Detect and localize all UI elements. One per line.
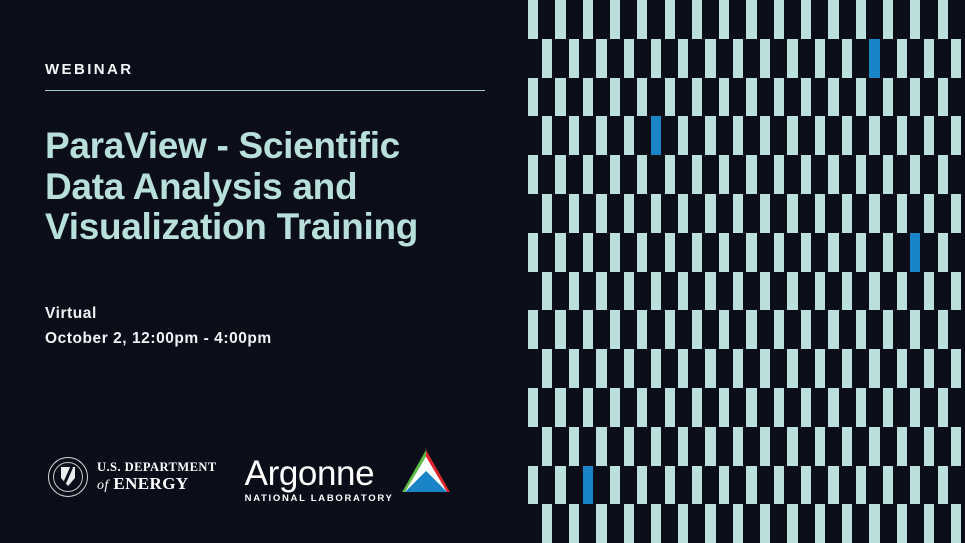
pattern-bar (774, 466, 784, 505)
pattern-bar (938, 78, 948, 117)
pattern-bar (555, 466, 565, 505)
pattern-bar (746, 466, 756, 505)
pattern-bar (815, 349, 825, 388)
pattern-row (528, 388, 965, 427)
pattern-bar (637, 0, 647, 39)
pattern-bar (938, 466, 948, 505)
pattern-bar (665, 0, 675, 39)
pattern-bar (705, 194, 715, 233)
pattern-bar (624, 427, 634, 466)
doe-seal-icon (48, 457, 88, 497)
pattern-bar (815, 427, 825, 466)
pattern-bar (637, 466, 647, 505)
pattern-bar (555, 388, 565, 427)
pattern-bar (733, 272, 743, 311)
pattern-bar (828, 310, 838, 349)
pattern-bar (951, 272, 961, 311)
pattern-bar (719, 0, 729, 39)
pattern-bar (883, 466, 893, 505)
pattern-bar (801, 388, 811, 427)
eyebrow-block: WEBINAR (45, 62, 485, 91)
pattern-bar (910, 0, 920, 39)
pattern-bar (596, 504, 606, 543)
pattern-bar (596, 272, 606, 311)
pattern-bar (665, 466, 675, 505)
pattern-bar (828, 466, 838, 505)
argonne-subtitle-label: NATIONAL LABORATORY (245, 493, 394, 504)
event-datetime: October 2, 12:00pm - 4:00pm (45, 326, 272, 351)
pattern-bar (692, 310, 702, 349)
pattern-bar (719, 78, 729, 117)
pattern-bar (883, 388, 893, 427)
pattern-bar (542, 194, 552, 233)
pattern-bar (828, 233, 838, 272)
pattern-bar-accent (869, 39, 879, 78)
pattern-bar (624, 272, 634, 311)
pattern-row (528, 272, 965, 311)
pattern-bar (528, 388, 538, 427)
pattern-row (528, 349, 965, 388)
pattern-bar (610, 466, 620, 505)
pattern-bar (856, 466, 866, 505)
pattern-bar (910, 310, 920, 349)
pattern-bar (760, 427, 770, 466)
pattern-bar (774, 78, 784, 117)
pattern-row (528, 194, 965, 233)
pattern-row (528, 116, 965, 155)
pattern-bar (842, 194, 852, 233)
pattern-bar (692, 0, 702, 39)
pattern-bar (856, 388, 866, 427)
eyebrow-divider (45, 90, 485, 91)
pattern-bar (569, 349, 579, 388)
pattern-bar (542, 504, 552, 543)
pattern-bar (624, 194, 634, 233)
pattern-bar-accent (910, 233, 920, 272)
pattern-bar (651, 194, 661, 233)
pattern-bar (705, 349, 715, 388)
pattern-bar (596, 349, 606, 388)
pattern-bar (583, 310, 593, 349)
pattern-bar (569, 116, 579, 155)
pattern-bar (924, 194, 934, 233)
pattern-bar (733, 427, 743, 466)
pattern-bar (856, 78, 866, 117)
pattern-bar (760, 349, 770, 388)
pattern-bar (555, 155, 565, 194)
pattern-bar (678, 504, 688, 543)
pattern-bar (651, 504, 661, 543)
pattern-bar (924, 272, 934, 311)
pattern-bar (828, 155, 838, 194)
pattern-bar (842, 116, 852, 155)
pattern-bar (637, 310, 647, 349)
pattern-row (528, 39, 965, 78)
pattern-bar (637, 78, 647, 117)
pattern-bar (787, 39, 797, 78)
pattern-bar (665, 388, 675, 427)
pattern-bar (528, 155, 538, 194)
pattern-bar (842, 272, 852, 311)
pattern-bar (665, 155, 675, 194)
pattern-bar (869, 272, 879, 311)
pattern-row (528, 466, 965, 505)
pattern-bar (869, 504, 879, 543)
pattern-bar (856, 155, 866, 194)
pattern-bar (951, 504, 961, 543)
pattern-bar (542, 116, 552, 155)
pattern-bar (678, 349, 688, 388)
logo-row: U.S. DEPARTMENT of ENERGY Argonne NATION… (48, 450, 450, 504)
pattern-bar (760, 272, 770, 311)
pattern-bar (624, 116, 634, 155)
pattern-row (528, 155, 965, 194)
pattern-bar (924, 427, 934, 466)
pattern-bar (760, 39, 770, 78)
pattern-bar (897, 194, 907, 233)
pattern-bar (924, 349, 934, 388)
pattern-bar (938, 155, 948, 194)
pattern-bar (692, 233, 702, 272)
pattern-bar (951, 427, 961, 466)
pattern-bar (733, 504, 743, 543)
doe-energy-word: ENERGY (113, 474, 188, 493)
pattern-bar (719, 310, 729, 349)
pattern-bar (665, 233, 675, 272)
pattern-bar (787, 504, 797, 543)
pattern-bar (787, 427, 797, 466)
event-details: Virtual October 2, 12:00pm - 4:00pm (45, 301, 272, 351)
pattern-bar (678, 116, 688, 155)
pattern-bar (924, 504, 934, 543)
doe-of-label: of (97, 478, 109, 493)
pattern-bar (897, 349, 907, 388)
pattern-bar (569, 272, 579, 311)
pattern-bar (815, 39, 825, 78)
pattern-bar (787, 194, 797, 233)
pattern-bar (869, 116, 879, 155)
doe-wordmark: U.S. DEPARTMENT of ENERGY (97, 461, 217, 494)
argonne-wordmark: Argonne NATIONAL LABORATORY (245, 456, 394, 504)
pattern-bar (774, 310, 784, 349)
pattern-bar (897, 39, 907, 78)
pattern-bar (610, 0, 620, 39)
doe-energy-label: of ENERGY (97, 475, 217, 494)
pattern-bar-accent (651, 116, 661, 155)
pattern-bar (774, 155, 784, 194)
pattern-bar (624, 39, 634, 78)
pattern-bar (555, 233, 565, 272)
pattern-bar (897, 427, 907, 466)
pattern-bar (815, 116, 825, 155)
pattern-bar (746, 155, 756, 194)
pattern-row (528, 504, 965, 543)
pattern-bar (842, 39, 852, 78)
pattern-bar (692, 155, 702, 194)
pattern-bar (910, 466, 920, 505)
pattern-bar (951, 349, 961, 388)
pattern-bar (951, 116, 961, 155)
pattern-bar (801, 310, 811, 349)
pattern-bar (719, 155, 729, 194)
pattern-bar (665, 310, 675, 349)
pattern-bar (678, 427, 688, 466)
pattern-bar (624, 349, 634, 388)
pattern-bar (692, 388, 702, 427)
pattern-bar (897, 272, 907, 311)
pattern-bar (678, 194, 688, 233)
pattern-bar (883, 78, 893, 117)
pattern-row (528, 0, 965, 39)
pattern-bar (746, 310, 756, 349)
pattern-bar (938, 0, 948, 39)
pattern-bar (856, 233, 866, 272)
pattern-bar (528, 0, 538, 39)
pattern-bar (951, 194, 961, 233)
argonne-name-label: Argonne (245, 456, 394, 491)
pattern-bar (910, 388, 920, 427)
pattern-bar (801, 466, 811, 505)
pattern-bar (610, 78, 620, 117)
pattern-bar-accent (583, 466, 593, 505)
pattern-bar (637, 155, 647, 194)
pattern-bar (815, 194, 825, 233)
pattern-bar (610, 233, 620, 272)
pattern-bar (787, 116, 797, 155)
pattern-bar (542, 39, 552, 78)
pattern-bar (801, 78, 811, 117)
pattern-bar (733, 116, 743, 155)
pattern-bar (787, 272, 797, 311)
pattern-bar (801, 233, 811, 272)
doe-shield-icon (61, 467, 75, 486)
pattern-bar (705, 116, 715, 155)
pattern-bar (542, 427, 552, 466)
pattern-bar (528, 310, 538, 349)
pattern-bar (692, 466, 702, 505)
pattern-bar (596, 194, 606, 233)
pattern-bar (746, 0, 756, 39)
doe-logo: U.S. DEPARTMENT of ENERGY (48, 457, 217, 497)
pattern-bar (883, 0, 893, 39)
pattern-bar (610, 155, 620, 194)
pattern-bar (801, 0, 811, 39)
pattern-bar (842, 349, 852, 388)
pattern-bar (705, 427, 715, 466)
pattern-bar (719, 233, 729, 272)
pattern-bar (842, 427, 852, 466)
pattern-bar (678, 39, 688, 78)
pattern-bar (746, 388, 756, 427)
pattern-bar (583, 155, 593, 194)
pattern-bar (869, 349, 879, 388)
pattern-bar (883, 310, 893, 349)
pattern-bar (555, 310, 565, 349)
pattern-bar (596, 116, 606, 155)
pattern-row (528, 427, 965, 466)
pattern-bar (583, 233, 593, 272)
argonne-logo: Argonne NATIONAL LABORATORY (245, 450, 450, 504)
pattern-bar (733, 39, 743, 78)
pattern-bar (774, 233, 784, 272)
pattern-bar (815, 504, 825, 543)
pattern-bar (542, 349, 552, 388)
pattern-bar (842, 504, 852, 543)
content-column: WEBINAR ParaView - Scientific Data Analy… (45, 0, 505, 543)
pattern-bar (869, 427, 879, 466)
event-location: Virtual (45, 301, 272, 326)
pattern-bar (651, 349, 661, 388)
decorative-bar-pattern (528, 0, 965, 543)
pattern-bar (705, 272, 715, 311)
pattern-bar (583, 388, 593, 427)
eyebrow-label: WEBINAR (45, 62, 485, 77)
pattern-bar (583, 78, 593, 117)
pattern-bar (938, 310, 948, 349)
pattern-bar (555, 0, 565, 39)
pattern-bar (746, 78, 756, 117)
pattern-bar (869, 194, 879, 233)
pattern-bar (938, 388, 948, 427)
page-title: ParaView - Scientific Data Analysis and … (45, 126, 475, 248)
pattern-bar (596, 39, 606, 78)
pattern-bar (569, 427, 579, 466)
pattern-bar (938, 233, 948, 272)
pattern-bar (910, 78, 920, 117)
pattern-bar (910, 155, 920, 194)
pattern-bar (651, 427, 661, 466)
pattern-bar (705, 504, 715, 543)
pattern-bar (924, 116, 934, 155)
pattern-bar (637, 233, 647, 272)
pattern-row (528, 310, 965, 349)
pattern-bar (610, 388, 620, 427)
pattern-bar (542, 272, 552, 311)
pattern-bar (665, 78, 675, 117)
pattern-bar (719, 466, 729, 505)
doe-department-label: U.S. DEPARTMENT (97, 461, 217, 474)
pattern-bar (787, 349, 797, 388)
pattern-bar (705, 39, 715, 78)
pattern-bar (528, 233, 538, 272)
pattern-bar (610, 310, 620, 349)
pattern-row (528, 233, 965, 272)
pattern-bar (733, 349, 743, 388)
pattern-bar (528, 78, 538, 117)
pattern-bar (760, 116, 770, 155)
pattern-bar (528, 466, 538, 505)
pattern-bar (828, 388, 838, 427)
pattern-bar (583, 0, 593, 39)
pattern-bar (774, 0, 784, 39)
pattern-bar (719, 388, 729, 427)
pattern-bar (624, 504, 634, 543)
pattern-bar (828, 78, 838, 117)
pattern-bar (924, 39, 934, 78)
pattern-bar (856, 0, 866, 39)
pattern-bar (746, 233, 756, 272)
webinar-slide: WEBINAR ParaView - Scientific Data Analy… (0, 0, 965, 543)
pattern-bar (760, 504, 770, 543)
pattern-bar (596, 427, 606, 466)
pattern-bar (815, 272, 825, 311)
pattern-bar (569, 39, 579, 78)
pattern-bar (569, 194, 579, 233)
pattern-bar (692, 78, 702, 117)
pattern-bar (651, 39, 661, 78)
pattern-bar (774, 388, 784, 427)
pattern-bar (569, 504, 579, 543)
pattern-bar (733, 194, 743, 233)
pattern-bar (637, 388, 647, 427)
pattern-row (528, 78, 965, 117)
pattern-bar (856, 310, 866, 349)
pattern-bar (828, 0, 838, 39)
argonne-triangle-icon (402, 450, 450, 492)
pattern-bar (897, 504, 907, 543)
pattern-bar (760, 194, 770, 233)
pattern-bar (883, 155, 893, 194)
pattern-bar (651, 272, 661, 311)
pattern-bar (678, 272, 688, 311)
pattern-bar (951, 39, 961, 78)
pattern-bar (897, 116, 907, 155)
pattern-bar (555, 78, 565, 117)
pattern-bar (883, 233, 893, 272)
pattern-bar (801, 155, 811, 194)
